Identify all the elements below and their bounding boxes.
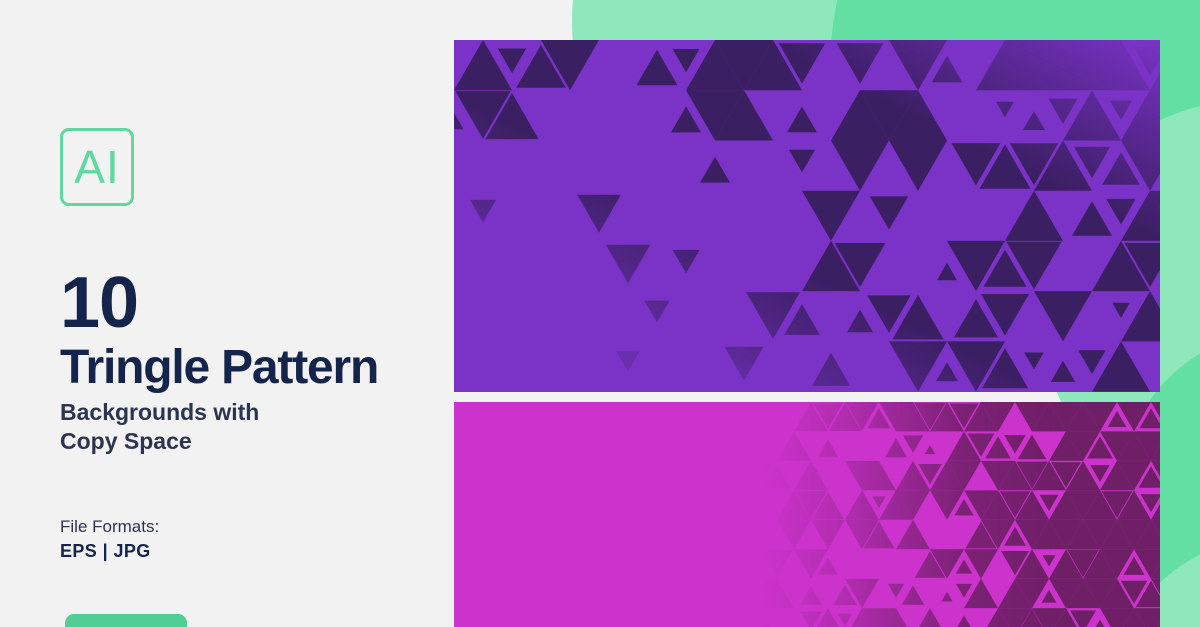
info-column: AI 10 Tringle Pattern Backgrounds with C… <box>60 0 460 627</box>
purple-triangle-preview[interactable] <box>454 40 1160 392</box>
item-count: 10 <box>60 267 138 339</box>
cta-button[interactable] <box>65 614 187 627</box>
adobe-illustrator-badge-label: AI <box>74 144 119 190</box>
page-subtitle: Backgrounds with Copy Space <box>60 398 390 457</box>
poster-canvas: AI 10 Tringle Pattern Backgrounds with C… <box>0 0 1200 627</box>
page-subtitle-line-2: Copy Space <box>60 427 390 456</box>
page-subtitle-line-1: Backgrounds with <box>60 398 390 427</box>
page-title: Tringle Pattern <box>60 344 378 392</box>
magenta-triangle-pattern <box>454 402 1160 627</box>
magenta-triangle-preview[interactable] <box>454 402 1160 627</box>
file-formats-value: EPS | JPG <box>60 542 151 560</box>
file-formats-label: File Formats: <box>60 518 159 535</box>
adobe-illustrator-badge: AI <box>60 128 134 206</box>
purple-triangle-pattern <box>454 40 1160 392</box>
